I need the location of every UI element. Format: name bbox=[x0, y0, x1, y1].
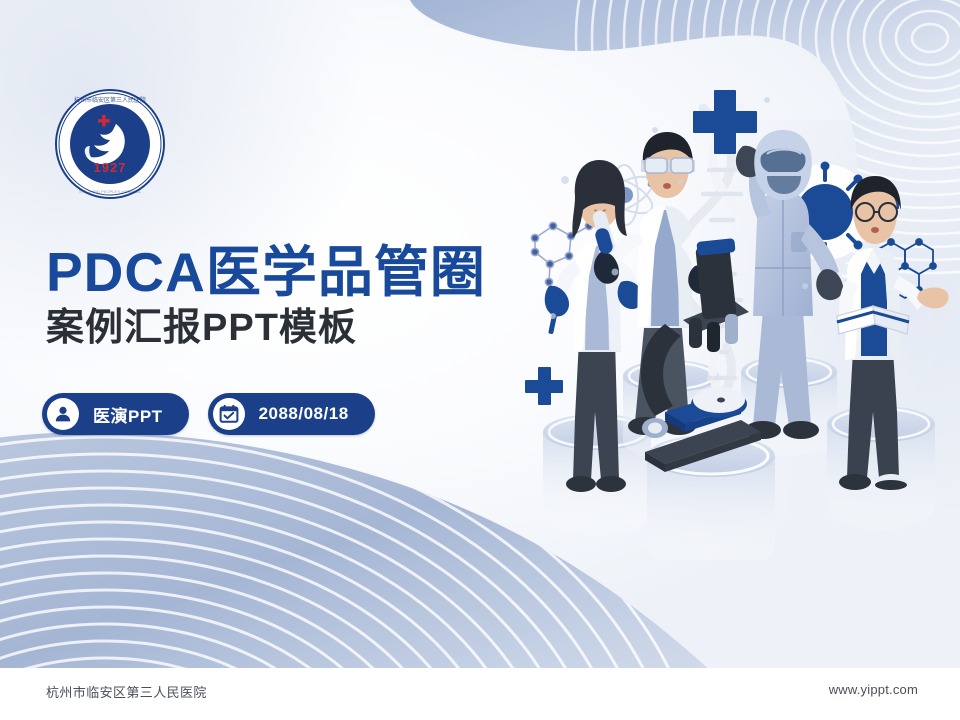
author-badge[interactable]: 医演PPT bbox=[42, 393, 189, 435]
medical-research-illustration bbox=[505, 60, 960, 560]
medical-cross-bottom-left bbox=[525, 367, 563, 405]
svg-text:杭州市临安区第三人民医院: 杭州市临安区第三人民医院 bbox=[74, 96, 146, 104]
svg-text:1927: 1927 bbox=[94, 160, 127, 175]
svg-text:THE THIRD PEOPLE'S HOSPITAL: THE THIRD PEOPLE'S HOSPITAL bbox=[79, 189, 142, 194]
calendar-check-icon bbox=[213, 398, 245, 430]
footer-website: www.yippt.com bbox=[829, 682, 918, 697]
date-badge-label: 2088/08/18 bbox=[259, 404, 349, 424]
author-badge-label: 医演PPT bbox=[93, 402, 163, 427]
medical-cross-large bbox=[693, 90, 757, 154]
footer-bar: 杭州市临安区第三人民医院 www.yippt.com bbox=[0, 668, 960, 720]
page-subtitle: 案例汇报PPT模板 bbox=[46, 307, 566, 350]
user-icon bbox=[47, 398, 79, 430]
page-title: PDCA医学品管圈 bbox=[46, 243, 566, 301]
footer-organization: 杭州市临安区第三人民医院 bbox=[46, 682, 207, 701]
title-block: PDCA医学品管圈 案例汇报PPT模板 bbox=[46, 243, 566, 350]
hospital-logo: 杭州市临安区第三人民医院 THE THIRD PEOPLE'S HOSPITAL… bbox=[54, 88, 166, 200]
meta-row: 医演PPT 2088/08/18 bbox=[42, 393, 375, 435]
date-badge[interactable]: 2088/08/18 bbox=[208, 393, 375, 435]
slide-root: 杭州市临安区第三人民医院 THE THIRD PEOPLE'S HOSPITAL… bbox=[0, 0, 960, 720]
slide-canvas: 杭州市临安区第三人民医院 THE THIRD PEOPLE'S HOSPITAL… bbox=[0, 0, 960, 668]
